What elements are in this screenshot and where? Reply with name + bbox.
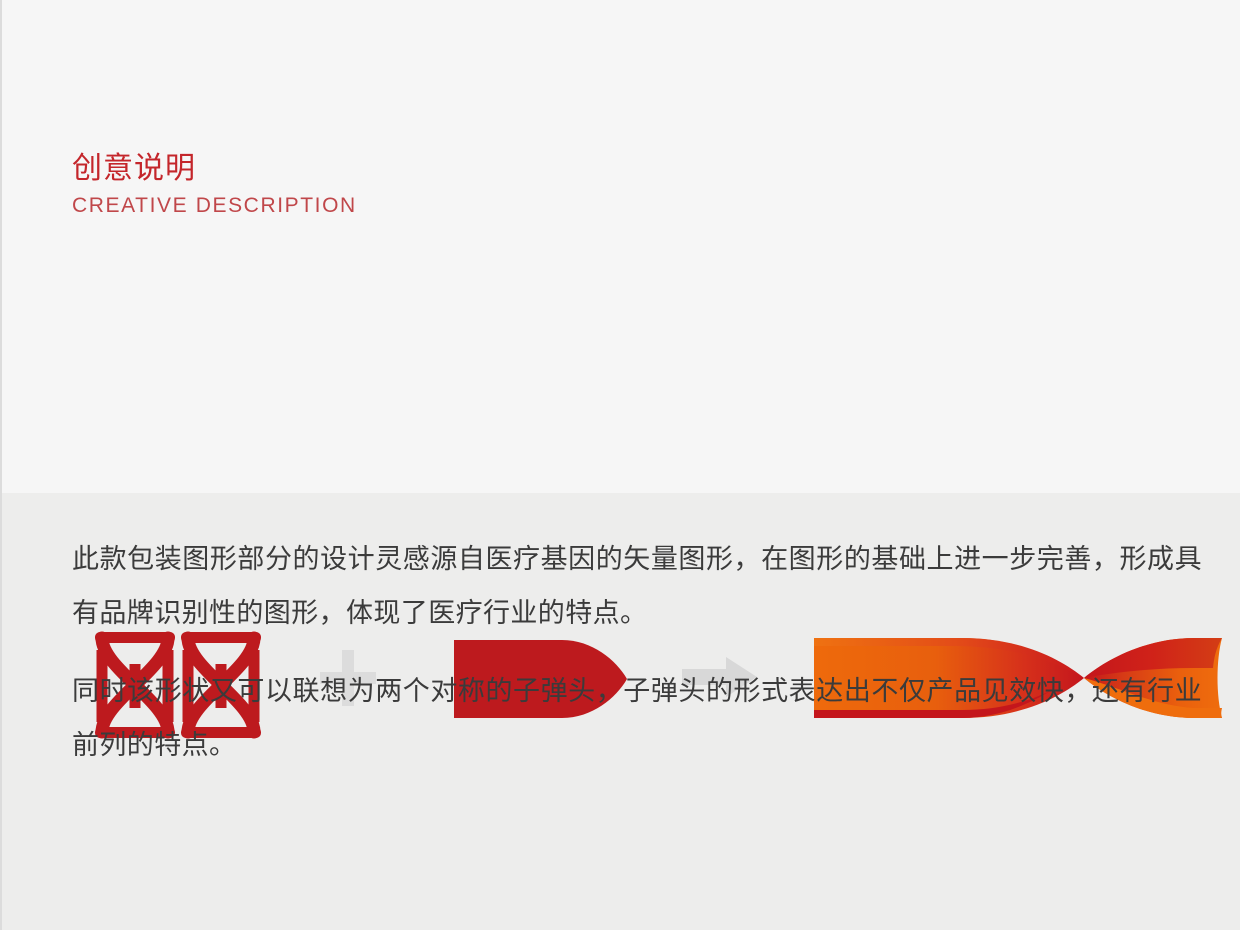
creative-description-slide: 创意说明 CREATIVE DESCRIPTION xyxy=(0,0,1240,930)
left-edge-divider xyxy=(0,0,2,930)
description-paragraph-2: 同时该形状又可以联想为两个对称的子弹头，子弹头的形式表达出不仅产品见效快，还有行… xyxy=(72,664,1202,772)
description-paragraph-1: 此款包装图形部分的设计灵感源自医疗基因的矢量图形，在图形的基础上进一步完善，形成… xyxy=(72,532,1202,640)
section-heading: 创意说明 CREATIVE DESCRIPTION xyxy=(72,150,672,220)
page-title: 创意说明 xyxy=(72,150,672,188)
description-text-block: 此款包装图形部分的设计灵感源自医疗基因的矢量图形，在图形的基础上进一步完善，形成… xyxy=(72,532,1202,772)
page-subtitle: CREATIVE DESCRIPTION xyxy=(72,192,672,220)
concept-equation-row xyxy=(0,300,1240,460)
